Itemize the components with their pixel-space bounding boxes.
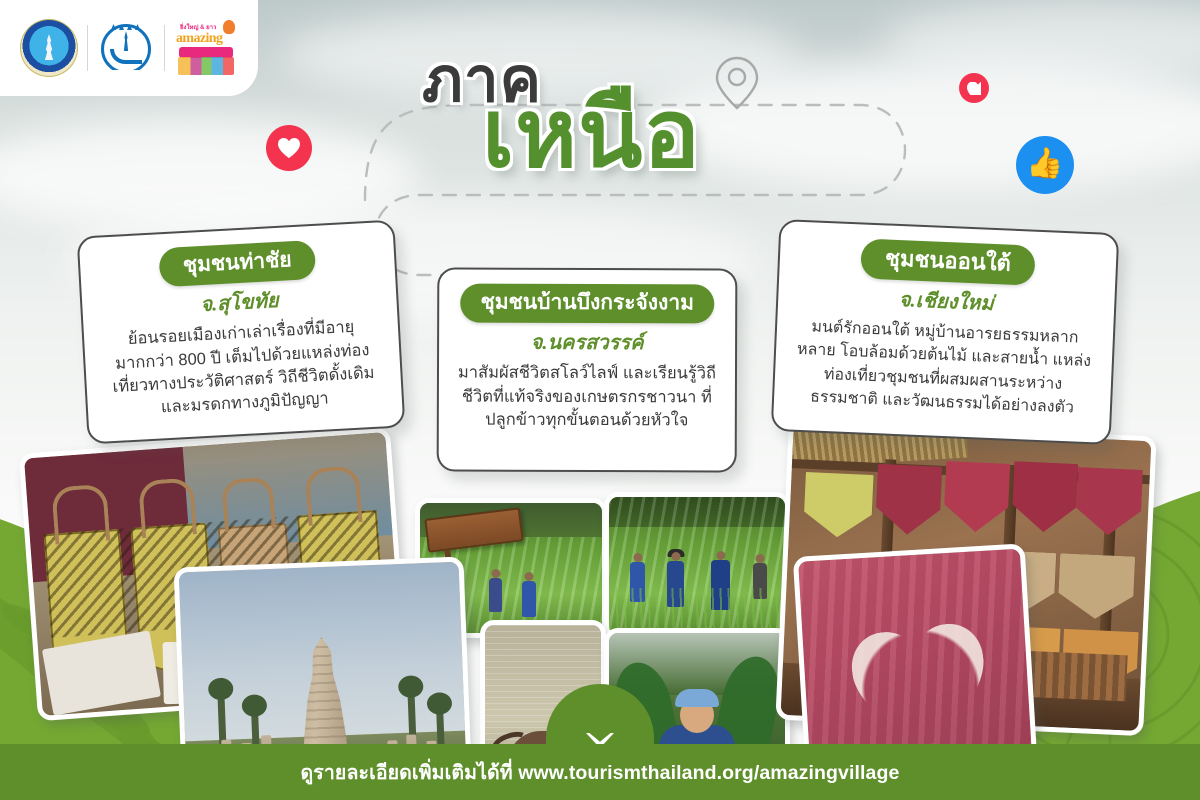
- tat-logo-icon: [97, 22, 155, 74]
- community-name-badge: ชุมชนบ้านบึงกระจังงาม: [460, 284, 714, 324]
- community-card-ban-bueng-krajang-ngam[interactable]: ชุมชนบ้านบึงกระจังงาม จ.นครสวรรค์ มาสัมผ…: [437, 267, 738, 472]
- footer-bar: ดูรายละเอียดเพิ่มเติมได้ที่ www.tourismt…: [0, 744, 1200, 800]
- thumbs-up-glyph: 👍: [1026, 149, 1063, 179]
- cloud-shape: [880, 0, 1200, 80]
- logo-divider: [87, 25, 88, 71]
- community-name-badge: ชุมชนออนใต้: [860, 238, 1035, 285]
- heart-icon: [266, 125, 312, 171]
- heart-icon: [959, 73, 989, 103]
- logo-divider: [164, 25, 165, 71]
- community-description: ย้อนรอยเมืองเก่าเล่าเรื่องที่มีอายุมากกว…: [100, 314, 387, 423]
- cloud-shape: [0, 120, 420, 230]
- community-card-on-tai[interactable]: ชุมชนออนใต้ จ.เชียงใหม่ มนต์รักออนใต้ หม…: [771, 219, 1120, 445]
- community-name-badge: ชุมชนท่าชัย: [158, 240, 317, 288]
- amazing-wordmark: amazing: [176, 32, 236, 46]
- thumbs-up-icon: 👍: [1016, 136, 1074, 194]
- province-label: จ.เชียงใหม่: [794, 285, 1099, 320]
- ministry-seal-icon: [20, 19, 78, 77]
- page-title: ภาค เหนือ: [410, 52, 701, 177]
- community-description: มนต์รักออนใต้ หมู่บ้านอารยธรรมหลากหลาย โ…: [790, 315, 1098, 420]
- province-label: จ.นครสวรรค์: [455, 332, 719, 355]
- footer-url-text[interactable]: ดูรายละเอียดเพิ่มเติมได้ที่ www.tourismt…: [301, 757, 900, 788]
- photo-farmers-in-green-field: [604, 492, 790, 640]
- poster-canvas: ยิ่งใหญ่ & ยาว amazing ภาค เหนือ 👍: [0, 0, 1200, 800]
- map-pin-icon: [717, 58, 757, 108]
- cloud-shape: [640, 60, 1200, 190]
- title-line-2: เหนือ: [482, 91, 701, 177]
- community-description: มาสัมผัสชีวิตสโลว์ไลฟ์ และเรียนรู้วิถีชี…: [455, 362, 719, 433]
- amazing-thailand-logo-icon: ยิ่งใหญ่ & ยาว amazing: [174, 19, 238, 77]
- community-card-tha-chai[interactable]: ชุมชนท่าชัย จ.สุโขทัย ย้อนรอยเมืองเก่าเล…: [77, 220, 406, 445]
- logo-bar: ยิ่งใหญ่ & ยาว amazing: [0, 0, 258, 96]
